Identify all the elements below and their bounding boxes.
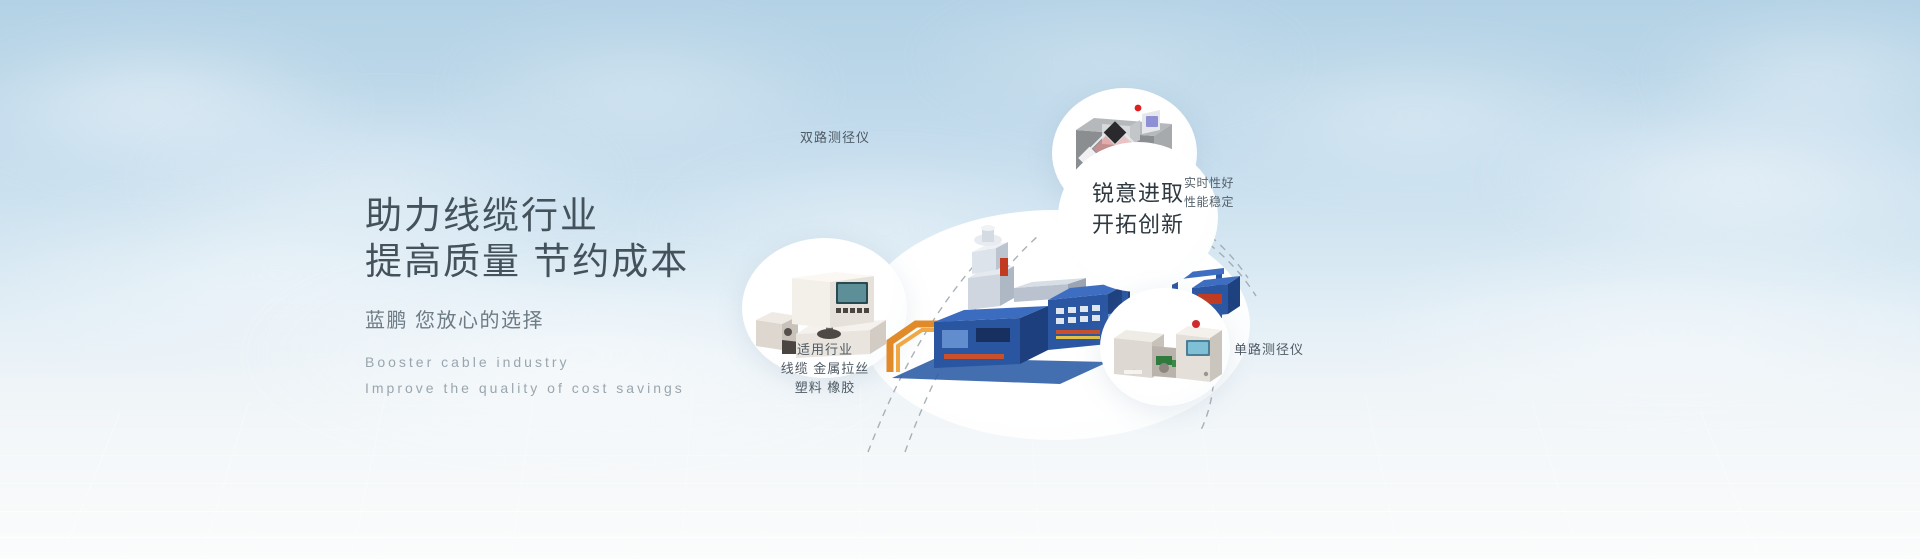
single-axis-diameter-gauge-icon [1110, 312, 1226, 388]
single-gauge-label: 单路测径仪 [1234, 340, 1304, 359]
product-composition: 蓝鹏测控 双路测径仪 [700, 0, 1920, 560]
dual-gauge-label: 双路测径仪 [800, 128, 870, 147]
slogan-line2: 开拓创新 [1058, 209, 1218, 240]
feature-line1: 实时性好 [1184, 174, 1234, 193]
feature-text: 实时性好 性能稳定 [1184, 174, 1234, 212]
feature-line2: 性能稳定 [1184, 193, 1234, 212]
promotional-banner: 助力线缆行业 提高质量 节约成本 蓝鹏 您放心的选择 Booster cable… [0, 0, 1920, 560]
